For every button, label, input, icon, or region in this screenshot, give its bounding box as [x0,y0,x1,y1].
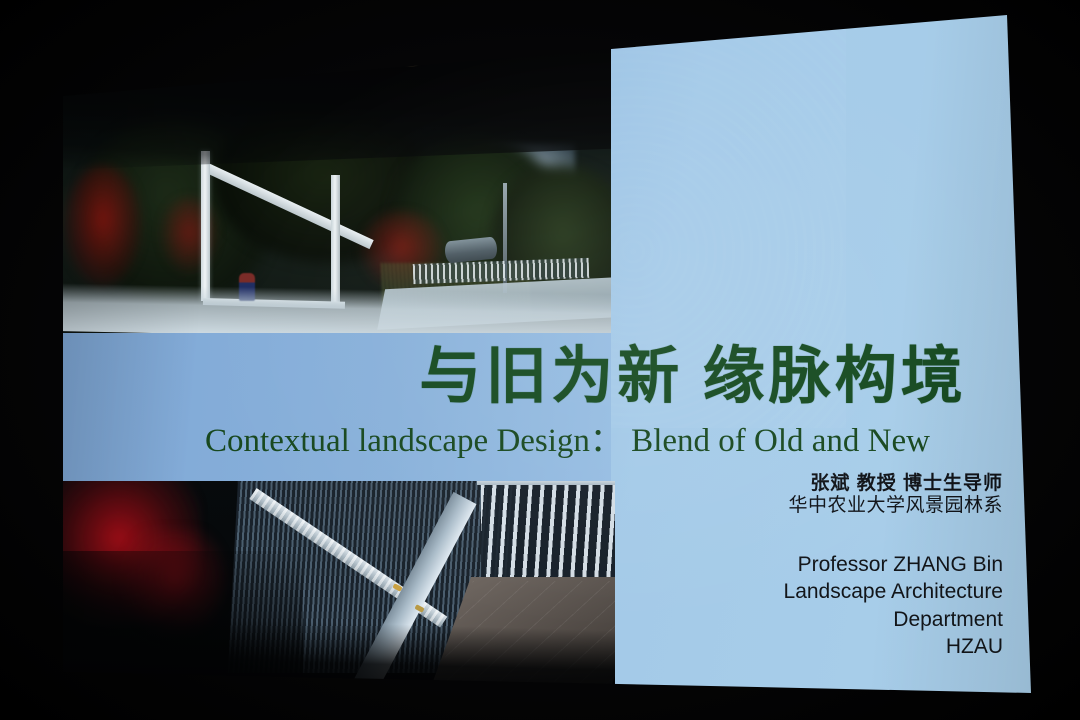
author-department-line-1: Landscape Architecture [623,578,1003,605]
author-institution: HZAU [623,633,1003,660]
pergola-post [201,151,210,301]
author-rank-chinese: 教授 博士生导师 [857,473,1003,494]
bottom-photo [63,481,615,693]
author-department-line-2: Department [623,606,1003,633]
top-photo [63,15,611,333]
slide-title-chinese: 与旧为新 缘脉构境 [363,325,1023,415]
presentation-slide: 与旧为新 缘脉构境 Contextual landscape Design： B… [63,15,1031,693]
dark-ceiling-band [63,15,611,170]
projected-slide-screenshot: 与旧为新 缘脉构境 Contextual landscape Design： B… [0,0,1080,720]
author-name-chinese: 张斌 [810,473,850,494]
slide-clip: 与旧为新 缘脉构境 Contextual landscape Design： B… [0,0,1080,720]
ceiling-lamp-icon [397,57,423,66]
railing-cap [477,481,615,485]
author-name-english: Professor ZHANG Bin [623,551,1003,578]
author-affiliation-chinese: 华中农业大学风景园林系 [623,495,1003,517]
slide-subtitle-english: Contextual landscape Design： Blend of Ol… [115,413,1020,461]
red-foliage [159,197,219,275]
author-block-english: Professor ZHANG Bin Landscape Architectu… [623,551,1003,660]
author-block-chinese: 张斌 教授 博士生导师 华中农业大学风景园林系 [623,473,1003,518]
pergola-post [331,175,340,303]
author-name-line: 张斌 教授 博士生导师 [623,473,1003,495]
red-foliage [65,165,141,285]
